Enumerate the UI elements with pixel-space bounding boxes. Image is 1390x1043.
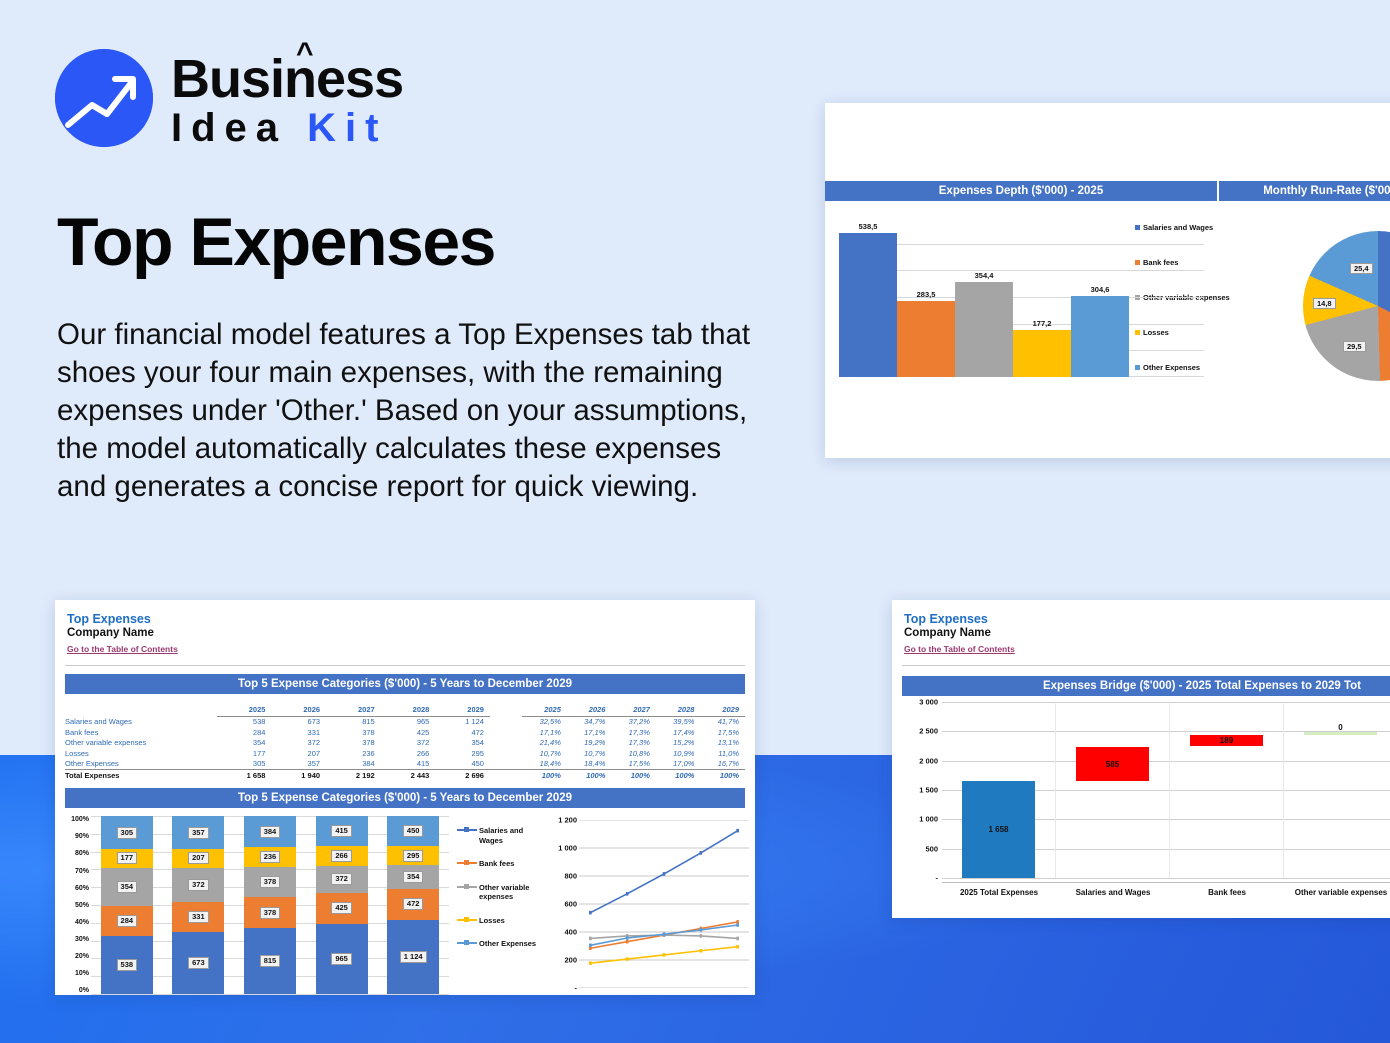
stack-segment: 965: [316, 924, 368, 994]
table-col-header: 2029: [435, 704, 490, 716]
stacked-column-2028: 415266372425965: [316, 816, 368, 994]
waterfall-value-label: 0: [1338, 723, 1342, 732]
bar-fill: [1013, 330, 1071, 377]
line-series-group: [579, 820, 749, 988]
table-cell: 177: [217, 748, 272, 758]
waterfall-columns: 1 6585851890118: [942, 702, 1390, 878]
x-tick-label: 2029: [732, 994, 749, 995]
segment-value-label: 378: [260, 876, 281, 888]
legend-line: [457, 862, 477, 864]
line-marker: [663, 933, 666, 937]
expenses-bridge-waterfall-chart: 3 0002 5002 0001 5001 000500- 1 65858518…: [892, 702, 1390, 910]
x-tick-label: 2026: [619, 994, 636, 995]
stacked-column-2026: 357207372331673: [172, 816, 224, 994]
bottom-left-charts-row: 100%90%80%70%60%50%40%30%20%10%0% 305177…: [55, 808, 755, 995]
table-cell: 305: [217, 758, 272, 769]
stacked-column-2027: 384236378378815: [244, 816, 296, 994]
legend-label: Losses: [479, 916, 505, 926]
chart-band-row: Expenses Depth ($'000) - 2025 Monthly Ru…: [825, 181, 1390, 201]
table-cell-pct: 41,7%: [700, 716, 745, 727]
stacked-column-2029: 4502953544721 124: [387, 816, 439, 994]
sheet-title-bridge: Top Expenses: [904, 612, 1390, 626]
segment-value-label: 450: [403, 825, 424, 837]
x-tick-label: 2027: [657, 994, 674, 995]
line-chart-legend: Salaries and WagesBank feesOther variabl…: [457, 826, 541, 949]
y-tick-label: 500: [925, 844, 938, 853]
table-col-header: 2027: [326, 704, 381, 716]
line-marker: [663, 953, 666, 957]
bar-value-label: 304,6: [1071, 285, 1129, 294]
waterfall-value-label: 1 658: [988, 825, 1008, 834]
sheet-divider-bridge: [902, 665, 1390, 666]
y-tick-label: 30%: [59, 936, 89, 943]
table-row: Bank fees28433137842547217,1%17,1%17,3%1…: [65, 727, 745, 737]
segment-value-label: 378: [260, 907, 281, 919]
stack-segment: 372: [172, 868, 224, 902]
legend-label: Losses: [1143, 328, 1169, 338]
brand-name-kit: Kit: [307, 106, 387, 150]
table-cell-pct: 18,4%: [522, 758, 567, 769]
stack-segment: 357: [172, 816, 224, 849]
segment-value-label: 236: [260, 851, 281, 863]
table-cell: 425: [381, 727, 436, 737]
stack-segment: 266: [316, 846, 368, 865]
pie-label-losses: 14,8: [1313, 298, 1336, 309]
segment-value-label: 354: [403, 871, 424, 883]
sheet-company-name-bridge: Company Name: [904, 627, 1390, 639]
table-cell-pct: 17,4%: [656, 727, 701, 737]
waterfall-column-other-variable-expenses: 0: [1284, 702, 1390, 878]
table-cell-pct: 17,3%: [611, 727, 656, 737]
line-marker: [589, 911, 592, 915]
waterfall-column-salaries-and-wages: 585: [1056, 702, 1170, 878]
table-cell: 450: [435, 758, 490, 769]
table-cell-pct: 10,7%: [567, 748, 612, 758]
monthly-run-rate-pie-area: 25,4 14,8 29,5 23,6: [1255, 201, 1390, 381]
table-cell-pct: 34,7%: [567, 716, 612, 727]
screenshot-panel-top-5-categories[interactable]: Top Expenses Company Name Go to the Tabl…: [55, 600, 755, 995]
line-marker: [736, 945, 739, 949]
sheet-company-name: Company Name: [67, 627, 755, 639]
y-tick-label: -: [936, 874, 939, 883]
chart-title-expenses-bridge: Expenses Bridge ($'000) - 2025 Total Exp…: [902, 676, 1390, 696]
bar-value-label: 177,2: [1013, 319, 1071, 328]
table-cell: 357: [271, 758, 326, 769]
table-cell: 378: [326, 727, 381, 737]
table-cell-pct: 39,5%: [656, 716, 701, 727]
y-tick-label: 40%: [59, 919, 89, 926]
table-cell: 354: [435, 737, 490, 747]
top5-expense-table-wrap: 2025202620272028202920252026202720282029…: [65, 704, 745, 780]
legend-line: [457, 829, 477, 831]
stack-segment: 354: [101, 868, 153, 906]
y-tick-label: 1 000: [919, 815, 938, 824]
line-marker: [626, 892, 629, 896]
table-total-row: Total Expenses1 6581 9402 1922 4432 6961…: [65, 769, 745, 780]
table-total-cell-pct: 100%: [656, 769, 701, 780]
y-tick-label: 50%: [59, 902, 89, 909]
bar-value-label: 354,4: [955, 271, 1013, 280]
stack-segment: 305: [101, 816, 153, 849]
waterfall-column-2025-total-expenses: 1 658: [942, 702, 1056, 878]
table-cell-pct: 21,4%: [522, 737, 567, 747]
table-col-header: 2028: [381, 704, 436, 716]
table-cell: 266: [381, 748, 436, 758]
segment-value-label: 372: [188, 879, 209, 891]
segment-value-label: 305: [117, 827, 138, 839]
y-tick-label: 10%: [59, 970, 89, 977]
table-cell: 295: [435, 748, 490, 758]
growth-arrow-icon: [55, 49, 153, 147]
waterfall-bar: 0: [1304, 732, 1376, 735]
y-tick-label: 2 000: [919, 756, 938, 765]
line-marker: [626, 957, 629, 961]
legend-line: [457, 919, 477, 921]
table-cell-pct: 17,3%: [611, 737, 656, 747]
stack-segment: 425: [316, 893, 368, 924]
y-tick-label: 3 000: [919, 698, 938, 707]
bar-fill: [839, 233, 897, 377]
table-total-label: Total Expenses: [65, 769, 217, 780]
bar-bank-fees: 283,5: [897, 301, 955, 377]
y-tick-label: 60%: [59, 885, 89, 892]
table-cell-pct: 13,1%: [700, 737, 745, 747]
segment-value-label: 1 124: [400, 951, 427, 963]
legend-line: [457, 886, 477, 888]
table-cell: 207: [271, 748, 326, 758]
sheet-title: Top Expenses: [67, 612, 755, 626]
legend-label: Salaries and Wages: [479, 826, 541, 845]
table-total-cell: 2 696: [435, 769, 490, 780]
table-row: Other Expenses30535738441545018,4%18,4%1…: [65, 758, 745, 769]
table-cell-pct: 11,0%: [700, 748, 745, 758]
page-description: Our financial model features a Top Expen…: [57, 316, 757, 506]
legend-item: Other variable expenses: [457, 883, 541, 902]
table-cell: 415: [381, 758, 436, 769]
legend-label: Other variable expenses: [479, 883, 541, 902]
table-cell-pct: 19,2%: [567, 737, 612, 747]
table-total-cell: 2 443: [381, 769, 436, 780]
legend-label: Salaries and Wages: [1143, 223, 1213, 233]
stack-segment: 177: [101, 849, 153, 868]
stack-segment: 372: [316, 866, 368, 893]
table-cell: 284: [217, 727, 272, 737]
bar-losses: 177,2: [1013, 330, 1071, 377]
bar-value-label: 283,5: [897, 290, 955, 299]
table-cell: 236: [326, 748, 381, 758]
chart-body-row: 538,5283,5354,4177,2304,6 Salaries and W…: [825, 201, 1390, 381]
table-cell-pct: 17,5%: [700, 727, 745, 737]
table-row: Salaries and Wages5386738159651 12432,5%…: [65, 716, 745, 727]
legend-item: Losses: [1135, 328, 1255, 338]
legend-swatch: [1135, 225, 1140, 230]
segment-value-label: 284: [117, 915, 138, 927]
y-tick-label: 80%: [59, 850, 89, 857]
x-tick-label: Other variable expenses: [1284, 888, 1390, 897]
waterfall-bar: 189: [1190, 735, 1262, 746]
chart-title-top5-categories: Top 5 Expense Categories ($'000) - 5 Yea…: [65, 788, 745, 808]
stack-segment: 538: [101, 936, 153, 994]
segment-value-label: 295: [403, 850, 424, 862]
table-cell-pct: 17,0%: [656, 758, 701, 769]
table-cell: 354: [217, 737, 272, 747]
chart-title-monthly-run-rate: Monthly Run-Rate ($'000): [1219, 181, 1390, 201]
x-tick-label: 2025 Total Expenses: [942, 888, 1056, 897]
line-marker: [700, 949, 703, 953]
table-of-contents-link[interactable]: Go to the Table of Contents: [67, 644, 178, 654]
x-tick-label: Salaries and Wages: [1056, 888, 1170, 897]
segment-value-label: 472: [403, 898, 424, 910]
stack-segment: 450: [387, 816, 439, 846]
legend-swatch: [1135, 330, 1140, 335]
table-total-cell: 1 658: [217, 769, 272, 780]
bar-fill: [897, 301, 955, 377]
line-marker: [626, 940, 629, 944]
brand-name-line1: Business ^: [171, 52, 403, 106]
legend-item: Salaries and Wages: [457, 826, 541, 845]
table-header-row: 2025202620272028202920252026202720282029: [65, 704, 745, 716]
x-tick-label: 2025: [581, 994, 598, 995]
stack-segment: 472: [387, 889, 439, 920]
stack-segment: 354: [387, 865, 439, 888]
bar-salaries-and-wages: 538,5: [839, 233, 897, 377]
brand-name-line2: Idea Kit: [171, 108, 403, 148]
gridline: [91, 994, 449, 995]
segment-value-label: 357: [188, 827, 209, 839]
stack-segment: 815: [244, 928, 296, 994]
table-col-header-pct: 2025: [522, 704, 567, 716]
legend-item: Other Expenses: [457, 939, 541, 949]
line-marker: [736, 920, 739, 924]
waterfall-bar: 1 658: [962, 781, 1034, 878]
bar-other-variable-expenses: 354,4: [955, 282, 1013, 377]
brand-name-line1-text: Business: [171, 49, 403, 109]
table-spacer: [490, 704, 522, 716]
legend-label: Other Expenses: [1143, 363, 1200, 373]
table-cell: 1 124: [435, 716, 490, 727]
stack-segment: 331: [172, 902, 224, 932]
stack-segment: 207: [172, 849, 224, 868]
segment-value-label: 354: [117, 881, 138, 893]
table-cell-pct: 37,2%: [611, 716, 656, 727]
stack-segment: 378: [244, 867, 296, 898]
waterfall-column-bank-fees: 189: [1170, 702, 1284, 878]
screenshot-panel-expenses-bridge[interactable]: Top Expenses Company Name Go to the Tabl…: [892, 600, 1390, 918]
legend-item: Losses: [457, 916, 541, 926]
waterfall-value-label: 585: [1106, 760, 1119, 769]
legend-item: Other variable expenses: [1135, 293, 1255, 303]
table-total-cell-pct: 100%: [611, 769, 656, 780]
line-marker: [736, 829, 739, 833]
table-cell: 331: [271, 727, 326, 737]
line-marker: [589, 944, 592, 948]
table-col-header: 2026: [271, 704, 326, 716]
segment-value-label: 266: [331, 850, 352, 862]
table-row: Other variable expenses35437237837235421…: [65, 737, 745, 747]
legend-swatch: [1135, 365, 1140, 370]
table-row-label: Losses: [65, 748, 217, 758]
line-marker: [700, 934, 703, 938]
brand-caret-icon: ^: [296, 39, 313, 69]
segment-value-label: 425: [331, 902, 352, 914]
bar-fill: [1071, 296, 1129, 377]
table-title-top5-categories: Top 5 Expense Categories ($'000) - 5 Yea…: [65, 674, 745, 694]
table-col-header: 2025: [217, 704, 272, 716]
legend-label: Other variable expenses: [1143, 293, 1230, 303]
y-tick-label: 100%: [59, 816, 89, 823]
line-marker: [589, 937, 592, 941]
table-cell-pct: 17,5%: [611, 758, 656, 769]
table-cell-pct: 17,1%: [567, 727, 612, 737]
bar-other-expenses: 304,6: [1071, 296, 1129, 377]
table-col-header-pct: 2027: [611, 704, 656, 716]
line-marker: [700, 928, 703, 932]
pie-label-other-expenses: 25,4: [1350, 263, 1373, 274]
table-row-label: Bank fees: [65, 727, 217, 737]
y-tick-label: 0%: [59, 987, 89, 994]
legend-line: [457, 942, 477, 944]
table-row: Losses17720723626629510,7%10,7%10,8%10,9…: [65, 748, 745, 758]
table-cell: 384: [326, 758, 381, 769]
table-cell: 538: [217, 716, 272, 727]
bar-value-label: 538,5: [839, 222, 897, 231]
segment-value-label: 177: [117, 852, 138, 864]
waterfall-plot: 1 6585851890118: [942, 702, 1390, 878]
table-row-label: Other Expenses: [65, 758, 217, 769]
top5-expense-table: 2025202620272028202920252026202720282029…: [65, 704, 745, 780]
stack-segment: 673: [172, 932, 224, 994]
table-cell: 372: [381, 737, 436, 747]
legend-item: Other Expenses: [1135, 363, 1255, 373]
table-cell: 673: [271, 716, 326, 727]
segment-value-label: 207: [188, 852, 209, 864]
table-cell-pct: 16,7%: [700, 758, 745, 769]
line-marker: [736, 923, 739, 927]
stack-segment: 384: [244, 816, 296, 847]
table-cell: 472: [435, 727, 490, 737]
segment-value-label: 673: [188, 957, 209, 969]
table-total-cell: 1 940: [271, 769, 326, 780]
line-marker: [589, 962, 592, 966]
brand-logo: Business ^ Idea Kit: [55, 48, 403, 148]
table-cell-pct: 32,5%: [522, 716, 567, 727]
brand-name-idea: Idea: [171, 106, 287, 150]
table-total-cell-pct: 100%: [700, 769, 745, 780]
segment-value-label: 372: [331, 873, 352, 885]
line-chart-x-axis: 20252026202720282029: [581, 994, 749, 995]
table-corner: [65, 704, 217, 716]
chart-title-expenses-depth: Expenses Depth ($'000) - 2025: [825, 181, 1219, 201]
waterfall-x-axis: 2025 Total ExpensesSalaries and WagesBan…: [942, 882, 1390, 897]
stack-segment: 236: [244, 847, 296, 866]
legend-label: Bank fees: [1143, 258, 1178, 268]
table-cell: 372: [271, 737, 326, 747]
page-title: Top Expenses: [57, 203, 495, 281]
x-tick-label: Bank fees: [1170, 888, 1284, 897]
table-total-cell: 2 192: [326, 769, 381, 780]
legend-swatch: [1135, 260, 1140, 265]
screenshot-panel-expenses-depth[interactable]: Expenses Depth ($'000) - 2025 Monthly Ru…: [825, 103, 1390, 458]
y-tick-label: 70%: [59, 868, 89, 875]
legend-item: Bank fees: [1135, 258, 1255, 268]
bar-fill: [955, 282, 1013, 377]
stack-segment: 1 124: [387, 920, 439, 994]
table-cell: 965: [381, 716, 436, 727]
segment-value-label: 965: [331, 953, 352, 965]
stacked-chart-y-axis: 100%90%80%70%60%50%40%30%20%10%0%: [59, 816, 89, 994]
table-col-header-pct: 2026: [567, 704, 612, 716]
waterfall-bar: 585: [1076, 747, 1148, 781]
segment-value-label: 384: [260, 826, 281, 838]
legend-label: Bank fees: [479, 859, 514, 869]
table-cell-pct: 15,2%: [656, 737, 701, 747]
gridline: [942, 878, 1390, 879]
table-of-contents-link-bridge[interactable]: Go to the Table of Contents: [904, 644, 1015, 654]
stacked-chart-plot: 3051773542845383572073723316733842363783…: [91, 816, 449, 994]
table-cell: 378: [326, 737, 381, 747]
segment-value-label: 815: [260, 955, 281, 967]
table-cell-pct: 10,9%: [656, 748, 701, 758]
segment-value-label: 331: [188, 911, 209, 923]
legend-item: Bank fees: [457, 859, 541, 869]
stack-segment: 295: [387, 846, 439, 865]
line-marker: [700, 851, 703, 855]
table-cell-pct: 10,8%: [611, 748, 656, 758]
table-total-cell-pct: 100%: [567, 769, 612, 780]
table-col-header-pct: 2029: [700, 704, 745, 716]
waterfall-value-label: 189: [1220, 736, 1233, 745]
line-marker: [663, 872, 666, 876]
sheet-divider: [65, 665, 745, 666]
line-marker: [626, 936, 629, 940]
legend-label: Other Expenses: [479, 939, 536, 949]
table-cell-pct: 10,7%: [522, 748, 567, 758]
stacked-column-chart: 100%90%80%70%60%50%40%30%20%10%0% 305177…: [55, 808, 453, 995]
stack-segment: 284: [101, 906, 153, 936]
stack-segment: 415: [316, 816, 368, 846]
y-tick-label: 1 500: [919, 786, 938, 795]
table-cell-pct: 18,4%: [567, 758, 612, 769]
stack-segment: 378: [244, 897, 296, 928]
sheet-header-bridge: Top Expenses Company Name Go to the Tabl…: [892, 600, 1390, 657]
legend-item: Salaries and Wages: [1135, 223, 1255, 233]
table-row-label: Other variable expenses: [65, 737, 217, 747]
sheet-header: Top Expenses Company Name Go to the Tabl…: [55, 600, 755, 657]
stacked-column-2025: 305177354284538: [101, 816, 153, 994]
pie-label-other-variable: 29,5: [1343, 341, 1366, 352]
y-tick-label: 90%: [59, 833, 89, 840]
line-chart-plot: [545, 820, 749, 988]
line-marker: [736, 937, 739, 941]
expense-trend-line-chart: Salaries and WagesBank feesOther variabl…: [453, 808, 755, 995]
segment-value-label: 538: [117, 959, 138, 971]
table-cell: 815: [326, 716, 381, 727]
table-row-label: Salaries and Wages: [65, 716, 217, 727]
table-cell-pct: 17,1%: [522, 727, 567, 737]
table-col-header-pct: 2028: [656, 704, 701, 716]
bar-group: 538,5283,5354,4177,2304,6: [839, 217, 1129, 377]
waterfall-y-axis: 3 0002 5002 0001 5001 000500-: [898, 702, 940, 878]
table-total-cell-pct: 100%: [522, 769, 567, 780]
y-tick-label: 2 500: [919, 727, 938, 736]
line-series: [590, 831, 737, 913]
x-tick-label: 2028: [694, 994, 711, 995]
segment-value-label: 415: [331, 825, 352, 837]
y-tick-label: 20%: [59, 953, 89, 960]
expenses-depth-bar-chart: 538,5283,5354,4177,2304,6: [839, 217, 1129, 377]
